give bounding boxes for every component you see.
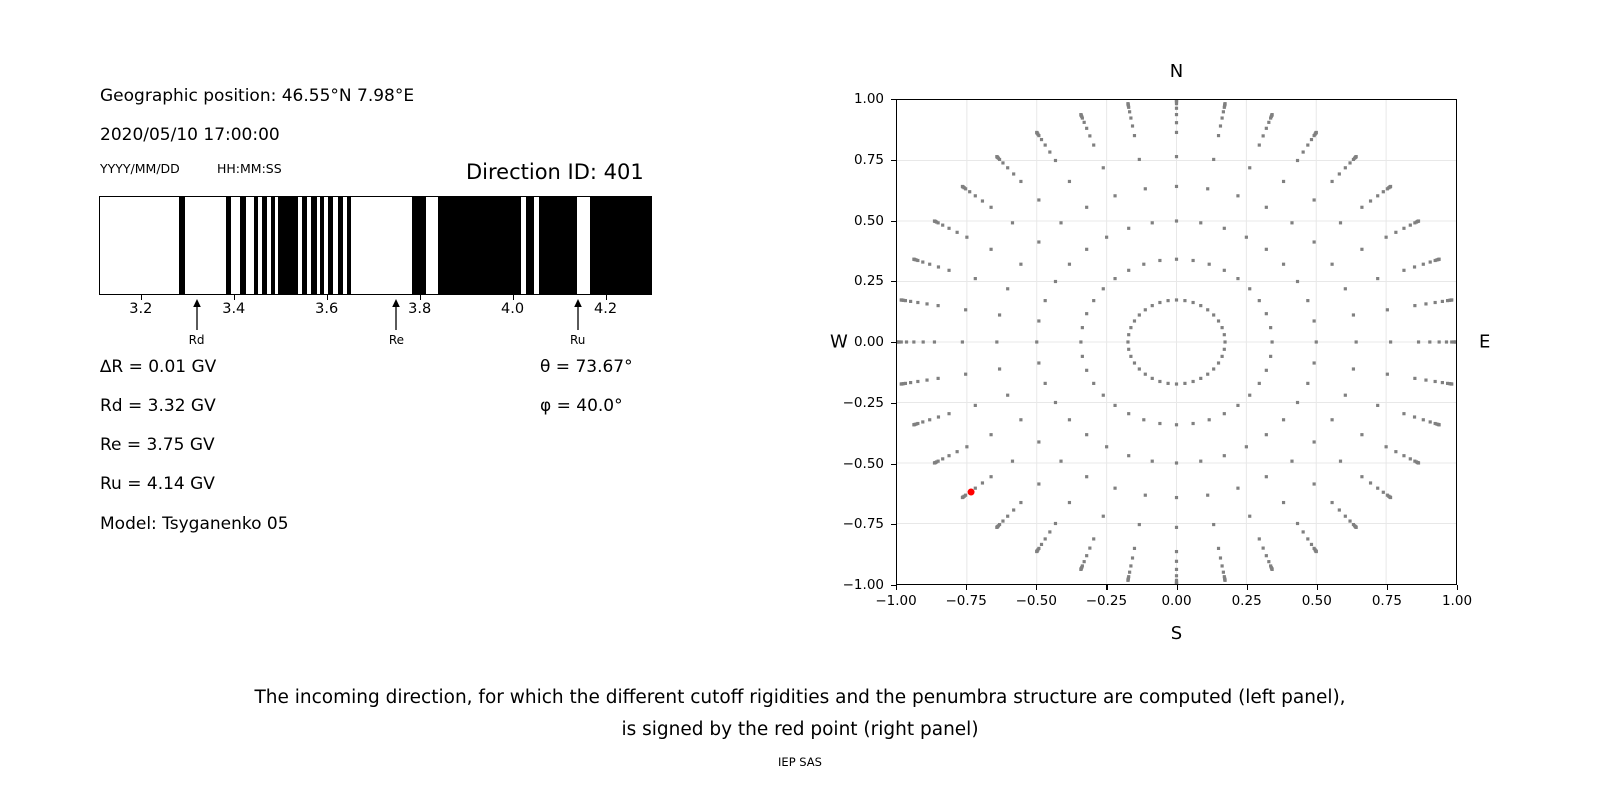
direction-point [1454,340,1456,343]
direction-point [1222,110,1225,113]
direction-point [1223,412,1226,415]
direction-point [1413,415,1416,418]
direction-point [1282,501,1285,504]
direction-point [1306,299,1309,302]
direction-point [1105,445,1108,448]
direction-point [1389,340,1392,343]
compass-north: N [1170,61,1183,82]
direction-point [1037,240,1040,243]
sky-xtick [1106,585,1107,590]
direction-point [1175,155,1178,158]
direction-point [1434,380,1437,383]
direction-point [1212,523,1215,526]
direction-point [1212,367,1215,370]
penumbra-band [226,197,232,294]
direction-point [1306,537,1309,540]
direction-point [1348,161,1351,164]
sky-ytick [891,342,896,343]
penumbra-band [262,197,267,294]
direction-point [1133,547,1136,550]
direction-point [1271,340,1274,343]
direction-point [1445,340,1448,343]
direction-point [912,258,915,261]
direction-point [1199,377,1202,380]
direction-point [1385,236,1388,239]
direction-point [1183,382,1186,385]
direction-point [1206,187,1209,190]
direction-point [1269,355,1272,358]
direction-point [1192,259,1195,262]
direction-point [1206,373,1209,376]
direction-point [1217,361,1220,364]
direction-point [1105,236,1108,239]
direction-point [1330,418,1333,421]
direction-point [1258,143,1261,146]
sky-ytick [891,99,896,100]
direction-point [968,190,971,193]
penumbra-bar [99,196,652,295]
penumbra-band [412,197,426,294]
direction-point [1144,373,1147,376]
direction-point [1265,554,1268,557]
direction-point [1081,326,1084,329]
direction-point [1265,248,1268,251]
direction-point [1223,227,1226,230]
penumbra-band [347,197,351,294]
direction-point [1221,326,1224,329]
direction-point [1339,460,1342,463]
axis-tick-label: 3.4 [222,301,245,317]
direction-point [1269,326,1272,329]
direction-point [1113,194,1116,197]
direction-point [1402,269,1405,272]
direction-point [1344,166,1347,169]
caption-line-1: The incoming direction, for which the di… [0,682,1600,714]
direction-point [1315,340,1318,343]
direction-point [1355,155,1358,158]
direction-point [1128,571,1131,574]
sky-xtick [1317,585,1318,590]
cutoff-arrow-rd [184,297,210,331]
direction-point [1330,180,1333,183]
direction-point [1296,159,1299,162]
sky-ytick-label: −0.75 [820,516,884,532]
cutoff-arrow-ru [565,297,591,331]
direction-point [1352,367,1355,370]
penumbra-band [302,197,307,294]
direction-point [1223,340,1226,343]
direction-point [1142,263,1145,266]
direction-point [1068,501,1071,504]
param-right-1: φ = 40.0° [540,396,623,416]
direction-point [1166,382,1169,385]
direction-point [909,300,912,303]
direction-point [1438,340,1441,343]
sky-ytick [891,281,896,282]
direction-point [1192,422,1195,425]
axis-tick [513,295,514,300]
direction-point [1441,300,1444,303]
direction-point [1223,454,1226,457]
direction-point [1048,150,1051,153]
direction-point [897,340,899,343]
direction-point [1127,227,1130,230]
direction-point [1258,299,1261,302]
direction-point [1424,378,1427,381]
direction-point [1175,423,1178,426]
direction-point [1236,404,1239,407]
direction-point [961,185,964,188]
direction-point [1199,460,1202,463]
sky-xtick [896,585,897,590]
direction-point [1011,221,1014,224]
direction-point [1175,582,1178,584]
direction-point [922,340,925,343]
param-left-3: Ru = 4.14 GV [100,474,215,494]
direction-point [1360,248,1363,251]
direction-point [1054,159,1057,162]
direction-point [1138,313,1141,316]
direction-point [1267,121,1270,124]
direction-point [1310,138,1313,141]
direction-point [1219,556,1222,559]
direction-point [1037,319,1040,322]
direction-point [1129,564,1132,567]
axis-tick-label: 3.2 [129,301,152,317]
penumbra-band [278,197,298,294]
direction-point [1313,440,1316,443]
direction-point [1413,377,1416,380]
direction-point [1360,475,1363,478]
direction-point [1438,423,1441,426]
direction-point [921,260,924,263]
footer-credit: IEP SAS [0,755,1600,769]
direction-point [1376,487,1379,490]
direction-point [1175,131,1178,134]
direction-point [1085,312,1088,315]
compass-east: E [1479,332,1490,353]
direction-point [1166,299,1169,302]
direction-point [1126,579,1129,582]
direction-point [1330,263,1333,266]
direction-point [1158,259,1161,262]
direction-point [900,382,903,385]
direction-point [1127,454,1130,457]
axis-tick [327,295,328,300]
direction-point [974,277,977,280]
direction-point [1382,190,1385,193]
direction-point [1223,102,1226,105]
direction-point [1222,571,1225,574]
direction-point [1102,166,1105,169]
sky-xtick [1036,585,1037,590]
direction-point [1006,515,1009,518]
direction-point [1175,382,1178,385]
direction-point [961,340,964,343]
compass-west: W [830,332,848,353]
direction-point [1192,301,1195,304]
direction-point [1429,260,1432,263]
direction-point [989,248,992,251]
direction-point [1434,301,1437,304]
direction-point [1315,131,1318,134]
grid-lines [897,100,1456,584]
direction-point [1386,308,1389,311]
direction-point [1085,433,1088,436]
direction-point [1369,481,1372,484]
direction-point [1175,526,1178,529]
direction-point [956,450,959,453]
direction-point [1158,380,1161,383]
direction-point [1265,127,1268,130]
direction-point [1083,121,1086,124]
direction-point [1085,369,1088,372]
direction-point [1131,124,1134,127]
direction-point [1054,280,1057,283]
direction-point [1079,340,1082,343]
direction-point [1126,340,1129,343]
param-left-4: Model: Tsyganenko 05 [100,514,289,534]
direction-point [1290,460,1293,463]
direction-point [1175,113,1178,116]
direction-point [1302,530,1305,533]
direction-point [1079,113,1082,116]
direction-point [1175,185,1178,188]
cutoff-label-ru: Ru [570,333,585,347]
direction-point [1306,143,1309,146]
direction-point [1265,206,1268,209]
direction-point [912,423,915,426]
direction-point [1265,433,1268,436]
direction-point [928,418,931,421]
sky-ytick-label: 0.25 [820,273,884,289]
sky-ytick-label: 0.75 [820,152,884,168]
direction-point [1217,319,1220,322]
sky-ytick [891,403,896,404]
direction-point [1019,501,1022,504]
direction-point [1206,308,1209,311]
param-left-1: Rd = 3.32 GV [100,396,216,416]
direction-point [1175,298,1178,301]
axis-tick-label: 3.8 [408,301,431,317]
direction-point [1270,113,1273,116]
direction-point [1088,547,1091,550]
direction-point [1223,269,1226,272]
direction-point [1417,461,1420,464]
direction-point [1040,138,1043,141]
direction-point [1313,482,1316,485]
direction-point [989,206,992,209]
direction-point [1006,287,1009,290]
direction-point [1360,206,1363,209]
direction-point [1175,496,1178,499]
direction-point [1037,482,1040,485]
direction-point [1338,508,1341,511]
direction-point [1409,457,1412,460]
direction-point [1081,355,1084,358]
direction-point [1248,166,1251,169]
direction-point [1438,258,1441,261]
direction-point [1282,418,1285,421]
direction-point [1040,543,1043,546]
direction-point [1054,401,1057,404]
direction-point [1417,219,1420,222]
penumbra-band [590,197,652,294]
direction-point [1088,134,1091,137]
sky-xtick-label: −0.50 [1016,593,1057,609]
sky-ytick [891,160,896,161]
penumbra-band [539,197,577,294]
direction-point [925,378,928,381]
direction-point [1208,418,1211,421]
direction-point [933,340,936,343]
direction-point [947,454,950,457]
direction-point [1245,445,1248,448]
sky-ytick-label: 0.50 [820,213,884,229]
penumbra-band [254,197,258,294]
direction-point [1092,299,1095,302]
direction-point [1127,348,1130,351]
selected-direction-point[interactable] [968,489,975,496]
direction-point [1059,221,1062,224]
direction-point [1394,450,1397,453]
direction-point [1068,263,1071,266]
direction-point [1212,313,1215,316]
direction-point [1352,313,1355,316]
direction-point [1313,240,1316,243]
direction-point [1369,199,1372,202]
direction-point [1044,382,1047,385]
cutoff-label-rd: Rd [189,333,205,347]
direction-point [1330,501,1333,504]
axis-tick [234,295,235,300]
penumbra-band [311,197,316,294]
direction-point [1282,263,1285,266]
direction-point [916,380,919,383]
direction-point [1344,287,1347,290]
direction-point [1175,100,1178,102]
direction-point [1219,124,1222,127]
direction-point [921,420,924,423]
direction-point [947,412,950,415]
direction-point [1128,110,1131,113]
direction-point [1001,519,1004,522]
sky-xtick-label: 0.00 [1161,593,1191,609]
direction-point [974,404,977,407]
direction-id-label: Direction ID: 401 [466,160,644,184]
direction-point [1085,554,1088,557]
direction-point [995,340,998,343]
direction-point [937,415,940,418]
direction-point [1236,277,1239,280]
direction-point [1355,526,1358,529]
direction-point [1262,547,1265,550]
direction-point [1267,560,1270,563]
direction-point [1151,460,1154,463]
direction-point [1258,382,1261,385]
direction-point [1386,373,1389,376]
direction-point [1151,221,1154,224]
direction-point [1221,116,1224,119]
direction-point [1127,269,1130,272]
direction-point [989,433,992,436]
direction-point [1282,180,1285,183]
direction-point [1360,433,1363,436]
direction-point [1175,560,1178,563]
direction-point [1131,556,1134,559]
direction-point [1413,265,1416,268]
axis-tick-label: 4.0 [501,301,524,317]
penumbra-chart [99,196,652,295]
sky-ytick-label: −0.25 [820,395,884,411]
direction-point [1402,412,1405,415]
direction-point [1313,198,1316,201]
direction-point [1236,194,1239,197]
direction-point [1248,287,1251,290]
direction-point [1192,380,1195,383]
direction-point [1133,361,1136,364]
direction-point [1068,418,1071,421]
direction-point [1102,287,1105,290]
direction-point [1102,515,1105,518]
direction-point [1012,508,1015,511]
direction-point [1151,377,1154,380]
direction-point [1223,579,1226,582]
param-left-0: ∆R = 0.01 GV [100,357,216,377]
direction-point [1011,460,1014,463]
direction-point [1092,143,1095,146]
figure-caption: The incoming direction, for which the di… [0,682,1600,746]
direction-point [1158,301,1161,304]
direction-point [1144,187,1147,190]
direction-point [1382,491,1385,494]
direction-point [1175,550,1178,553]
direction-point [1127,412,1130,415]
direction-point [1313,319,1316,322]
direction-point [1245,236,1248,239]
direction-point [1183,299,1186,302]
direction-point [1413,304,1416,307]
direction-point [956,231,959,234]
direction-point [1296,280,1299,283]
direction-point [947,227,950,230]
caption-line-2: is signed by the red point (right panel) [0,714,1600,746]
direction-point [1402,227,1405,230]
direction-point [1175,107,1178,110]
sky-xtick [966,585,967,590]
direction-point [1422,263,1425,266]
right-panel: −1.00−0.75−0.50−0.250.000.250.500.751.00… [800,0,1600,660]
direction-point [1092,537,1095,540]
direction-point [1302,150,1305,153]
direction-point [1035,340,1038,343]
direction-point [1315,550,1318,553]
direction-point [1113,487,1116,490]
direction-point [1344,394,1347,397]
direction-point [1338,172,1341,175]
direction-point [1417,340,1420,343]
direction-point [1450,298,1453,301]
direction-point [1376,194,1379,197]
direction-point [1158,422,1161,425]
direction-point [1037,440,1040,443]
direction-point [1290,221,1293,224]
direction-point [1313,361,1316,364]
direction-point [1037,198,1040,201]
direction-point [1394,231,1397,234]
sky-xtick-label: −0.75 [945,593,986,609]
direction-point [998,367,1001,370]
